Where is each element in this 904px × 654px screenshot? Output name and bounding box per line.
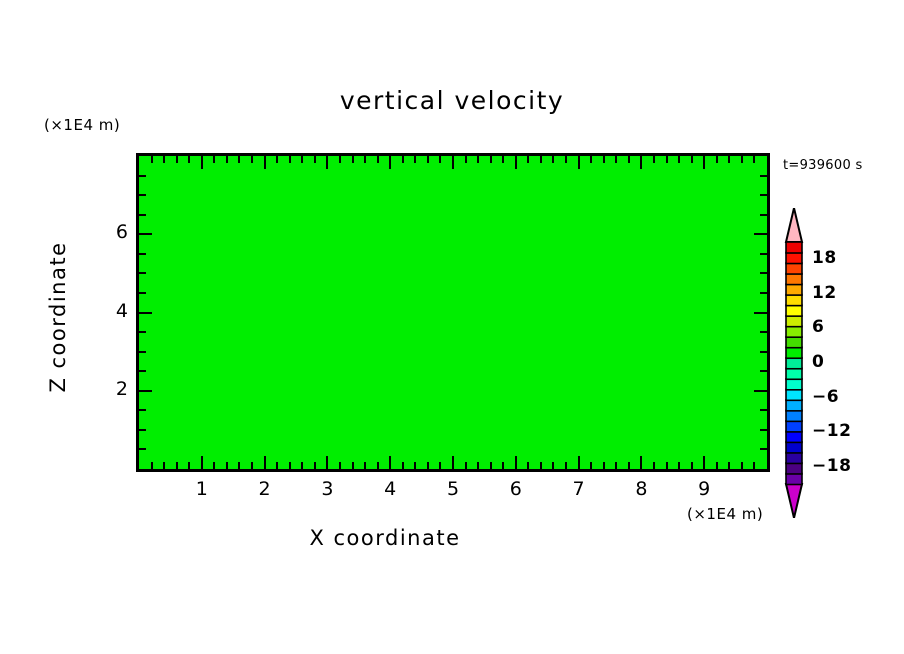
x-axis-tick: [163, 462, 165, 469]
x-axis-tick: [477, 156, 479, 163]
x-axis-tick: [389, 456, 391, 469]
x-axis-tick: [264, 156, 266, 169]
colorbar-swatch: [786, 442, 802, 453]
x-axis-tick: [615, 462, 617, 469]
x-axis-tick: [502, 156, 504, 163]
x-axis-tick: [251, 156, 253, 163]
x-axis-tick: [565, 156, 567, 163]
x-axis-tick: [741, 462, 743, 469]
y-axis-tick: [760, 214, 767, 216]
colorbar[interactable]: [782, 208, 806, 518]
timestamp-annotation: t=939600 s: [783, 158, 863, 173]
x-axis-tick: [540, 156, 542, 163]
x-axis-tick: [452, 456, 454, 469]
x-axis-tick: [515, 156, 517, 169]
x-axis-tick: [276, 156, 278, 163]
y-axis-title: Z coordinate: [46, 197, 70, 437]
x-axis-tick: [603, 156, 605, 163]
x-axis-tick: [728, 462, 730, 469]
y-axis-tick: [139, 370, 146, 372]
colorbar-swatch: [786, 358, 802, 369]
x-tick-label: 5: [433, 478, 473, 500]
x-axis-tick: [578, 156, 580, 169]
colorbar-swatch: [786, 400, 802, 411]
colorbar-tick-label: −12: [812, 421, 851, 441]
y-axis-tick: [139, 272, 146, 274]
x-axis-tick: [552, 156, 554, 163]
y-axis-tick: [760, 292, 767, 294]
y-tick-label: 2: [88, 378, 128, 400]
y-axis-tick: [139, 351, 146, 353]
y-axis-tick: [139, 253, 146, 255]
x-axis-tick: [402, 156, 404, 163]
x-axis-tick: [716, 462, 718, 469]
x-axis-tick: [301, 462, 303, 469]
x-axis-tick: [527, 156, 529, 163]
x-axis-tick: [427, 156, 429, 163]
y-axis-tick: [760, 409, 767, 411]
x-axis-tick: [364, 156, 366, 163]
x-axis-tick: [364, 462, 366, 469]
colorbar-swatch: [786, 452, 802, 463]
y-axis-tick: [139, 194, 146, 196]
x-axis-tick: [427, 462, 429, 469]
x-axis-tick: [703, 156, 705, 169]
x-axis-tick: [289, 156, 291, 163]
x-axis-tick: [377, 156, 379, 163]
x-tick-label: 6: [496, 478, 536, 500]
x-axis-tick: [578, 456, 580, 469]
y-axis-tick: [754, 312, 767, 314]
x-axis-tick: [264, 456, 266, 469]
colorbar-swatch: [786, 347, 802, 358]
colorbar-tick-label: 18: [812, 248, 837, 268]
x-axis-tick: [339, 156, 341, 163]
colorbar-swatch: [786, 263, 802, 274]
y-axis-tick: [139, 409, 146, 411]
colorbar-swatch: [786, 274, 802, 285]
x-axis-tick: [741, 156, 743, 163]
x-axis-tick: [465, 156, 467, 163]
x-tick-label: 8: [621, 478, 661, 500]
x-axis-tick: [590, 156, 592, 163]
x-tick-label: 2: [245, 478, 285, 500]
colorbar-swatch: [786, 463, 802, 474]
x-axis-title: X coordinate: [0, 526, 770, 550]
x-axis-tick: [238, 462, 240, 469]
colorbar-swatch: [786, 253, 802, 264]
x-axis-tick: [377, 462, 379, 469]
contour-plot-area[interactable]: [136, 153, 770, 472]
x-axis-tick: [615, 156, 617, 163]
y-axis-tick: [760, 370, 767, 372]
colorbar-tick-label: −18: [812, 456, 851, 476]
x-axis-tick: [716, 156, 718, 163]
x-axis-tick: [640, 456, 642, 469]
x-axis-tick: [490, 156, 492, 163]
x-axis-tick: [439, 156, 441, 163]
x-axis-tick: [691, 156, 693, 163]
x-axis-tick: [628, 156, 630, 163]
x-axis-tick: [552, 462, 554, 469]
x-axis-tick: [402, 462, 404, 469]
y-axis-tick: [139, 429, 146, 431]
x-axis-tick: [515, 456, 517, 469]
x-axis-tick: [703, 456, 705, 469]
colorbar-tick-label: 12: [812, 283, 837, 303]
y-axis-tick: [139, 175, 146, 177]
colorbar-tick-label: −6: [812, 387, 839, 407]
colorbar-high-extend-arrow: [786, 208, 802, 242]
colorbar-swatch: [786, 410, 802, 421]
x-axis-tick: [477, 462, 479, 469]
y-axis-tick: [139, 214, 146, 216]
colorbar-swatch: [786, 316, 802, 327]
colorbar-swatch: [786, 389, 802, 400]
x-axis-tick: [188, 156, 190, 163]
x-axis-tick: [678, 462, 680, 469]
colorbar-swatch: [786, 473, 802, 484]
x-axis-tick: [565, 462, 567, 469]
x-tick-label: 4: [370, 478, 410, 500]
colorbar-swatch: [786, 421, 802, 432]
x-axis-tick: [753, 156, 755, 163]
y-axis-tick: [139, 390, 152, 392]
colorbar-tick-label: 6: [812, 317, 824, 337]
x-axis-tick: [151, 462, 153, 469]
x-axis-tick: [314, 462, 316, 469]
x-axis-tick: [653, 462, 655, 469]
y-axis-tick: [139, 233, 152, 235]
x-tick-label: 1: [182, 478, 222, 500]
colorbar-swatch: [786, 326, 802, 337]
x-axis-tick: [628, 462, 630, 469]
colorbar-tick-label: 0: [812, 352, 824, 372]
x-axis-tick: [326, 456, 328, 469]
x-axis-tick: [176, 462, 178, 469]
x-axis-tick: [352, 156, 354, 163]
x-axis-tick: [301, 156, 303, 163]
x-axis-tick: [314, 156, 316, 163]
colorbar-swatch: [786, 368, 802, 379]
y-axis-tick: [760, 253, 767, 255]
x-axis-unit-label: (×1E4 m): [687, 505, 763, 523]
y-axis-tick: [754, 390, 767, 392]
x-axis-tick: [226, 156, 228, 163]
x-axis-tick: [226, 462, 228, 469]
x-axis-tick: [213, 156, 215, 163]
colorbar-swatch: [786, 295, 802, 306]
colorbar-swatch: [786, 337, 802, 348]
y-tick-label: 4: [88, 300, 128, 322]
x-axis-tick: [603, 462, 605, 469]
colorbar-swatches: [782, 208, 806, 518]
x-axis-tick: [151, 156, 153, 163]
y-axis-tick: [760, 351, 767, 353]
y-axis-tick: [139, 448, 146, 450]
x-axis-tick: [163, 156, 165, 163]
x-axis-tick: [666, 462, 668, 469]
x-axis-tick: [238, 156, 240, 163]
x-axis-tick: [753, 462, 755, 469]
y-axis-tick: [139, 331, 146, 333]
x-axis-tick: [188, 462, 190, 469]
x-axis-tick: [339, 462, 341, 469]
y-axis-tick: [754, 233, 767, 235]
x-axis-tick: [640, 156, 642, 169]
x-axis-tick: [527, 462, 529, 469]
x-tick-label: 3: [307, 478, 347, 500]
x-axis-tick: [201, 156, 203, 169]
x-axis-tick: [439, 462, 441, 469]
x-tick-label: 7: [559, 478, 599, 500]
colorbar-swatch: [786, 284, 802, 295]
y-axis-tick: [139, 312, 152, 314]
y-axis-tick: [760, 272, 767, 274]
colorbar-swatch: [786, 379, 802, 390]
x-axis-tick: [201, 456, 203, 469]
x-axis-tick: [678, 156, 680, 163]
y-axis-tick: [760, 429, 767, 431]
y-axis-tick: [760, 194, 767, 196]
x-axis-tick: [540, 462, 542, 469]
x-axis-tick: [213, 462, 215, 469]
x-axis-tick: [502, 462, 504, 469]
x-axis-tick: [251, 462, 253, 469]
x-axis-tick: [276, 462, 278, 469]
colorbar-swatch: [786, 431, 802, 442]
x-axis-tick: [289, 462, 291, 469]
x-axis-tick: [728, 156, 730, 163]
x-axis-tick: [389, 156, 391, 169]
page-title: vertical velocity: [0, 86, 904, 115]
x-axis-tick: [414, 156, 416, 163]
x-tick-label: 9: [684, 478, 724, 500]
x-axis-tick: [352, 462, 354, 469]
y-axis-unit-label: (×1E4 m): [44, 116, 120, 134]
colorbar-swatch: [786, 242, 802, 253]
x-axis-tick: [176, 156, 178, 163]
x-axis-tick: [666, 156, 668, 163]
y-axis-tick: [760, 175, 767, 177]
x-axis-tick: [452, 156, 454, 169]
y-tick-label: 6: [88, 221, 128, 243]
x-axis-tick: [465, 462, 467, 469]
colorbar-low-extend-arrow: [786, 484, 802, 518]
y-axis-tick: [760, 331, 767, 333]
y-axis-tick: [139, 292, 146, 294]
x-axis-tick: [414, 462, 416, 469]
x-axis-tick: [691, 462, 693, 469]
x-axis-tick: [490, 462, 492, 469]
x-axis-tick: [326, 156, 328, 169]
y-axis-tick: [760, 448, 767, 450]
contour-field-canvas: [139, 156, 767, 469]
colorbar-swatch: [786, 305, 802, 316]
x-axis-tick: [653, 156, 655, 163]
x-axis-tick: [590, 462, 592, 469]
